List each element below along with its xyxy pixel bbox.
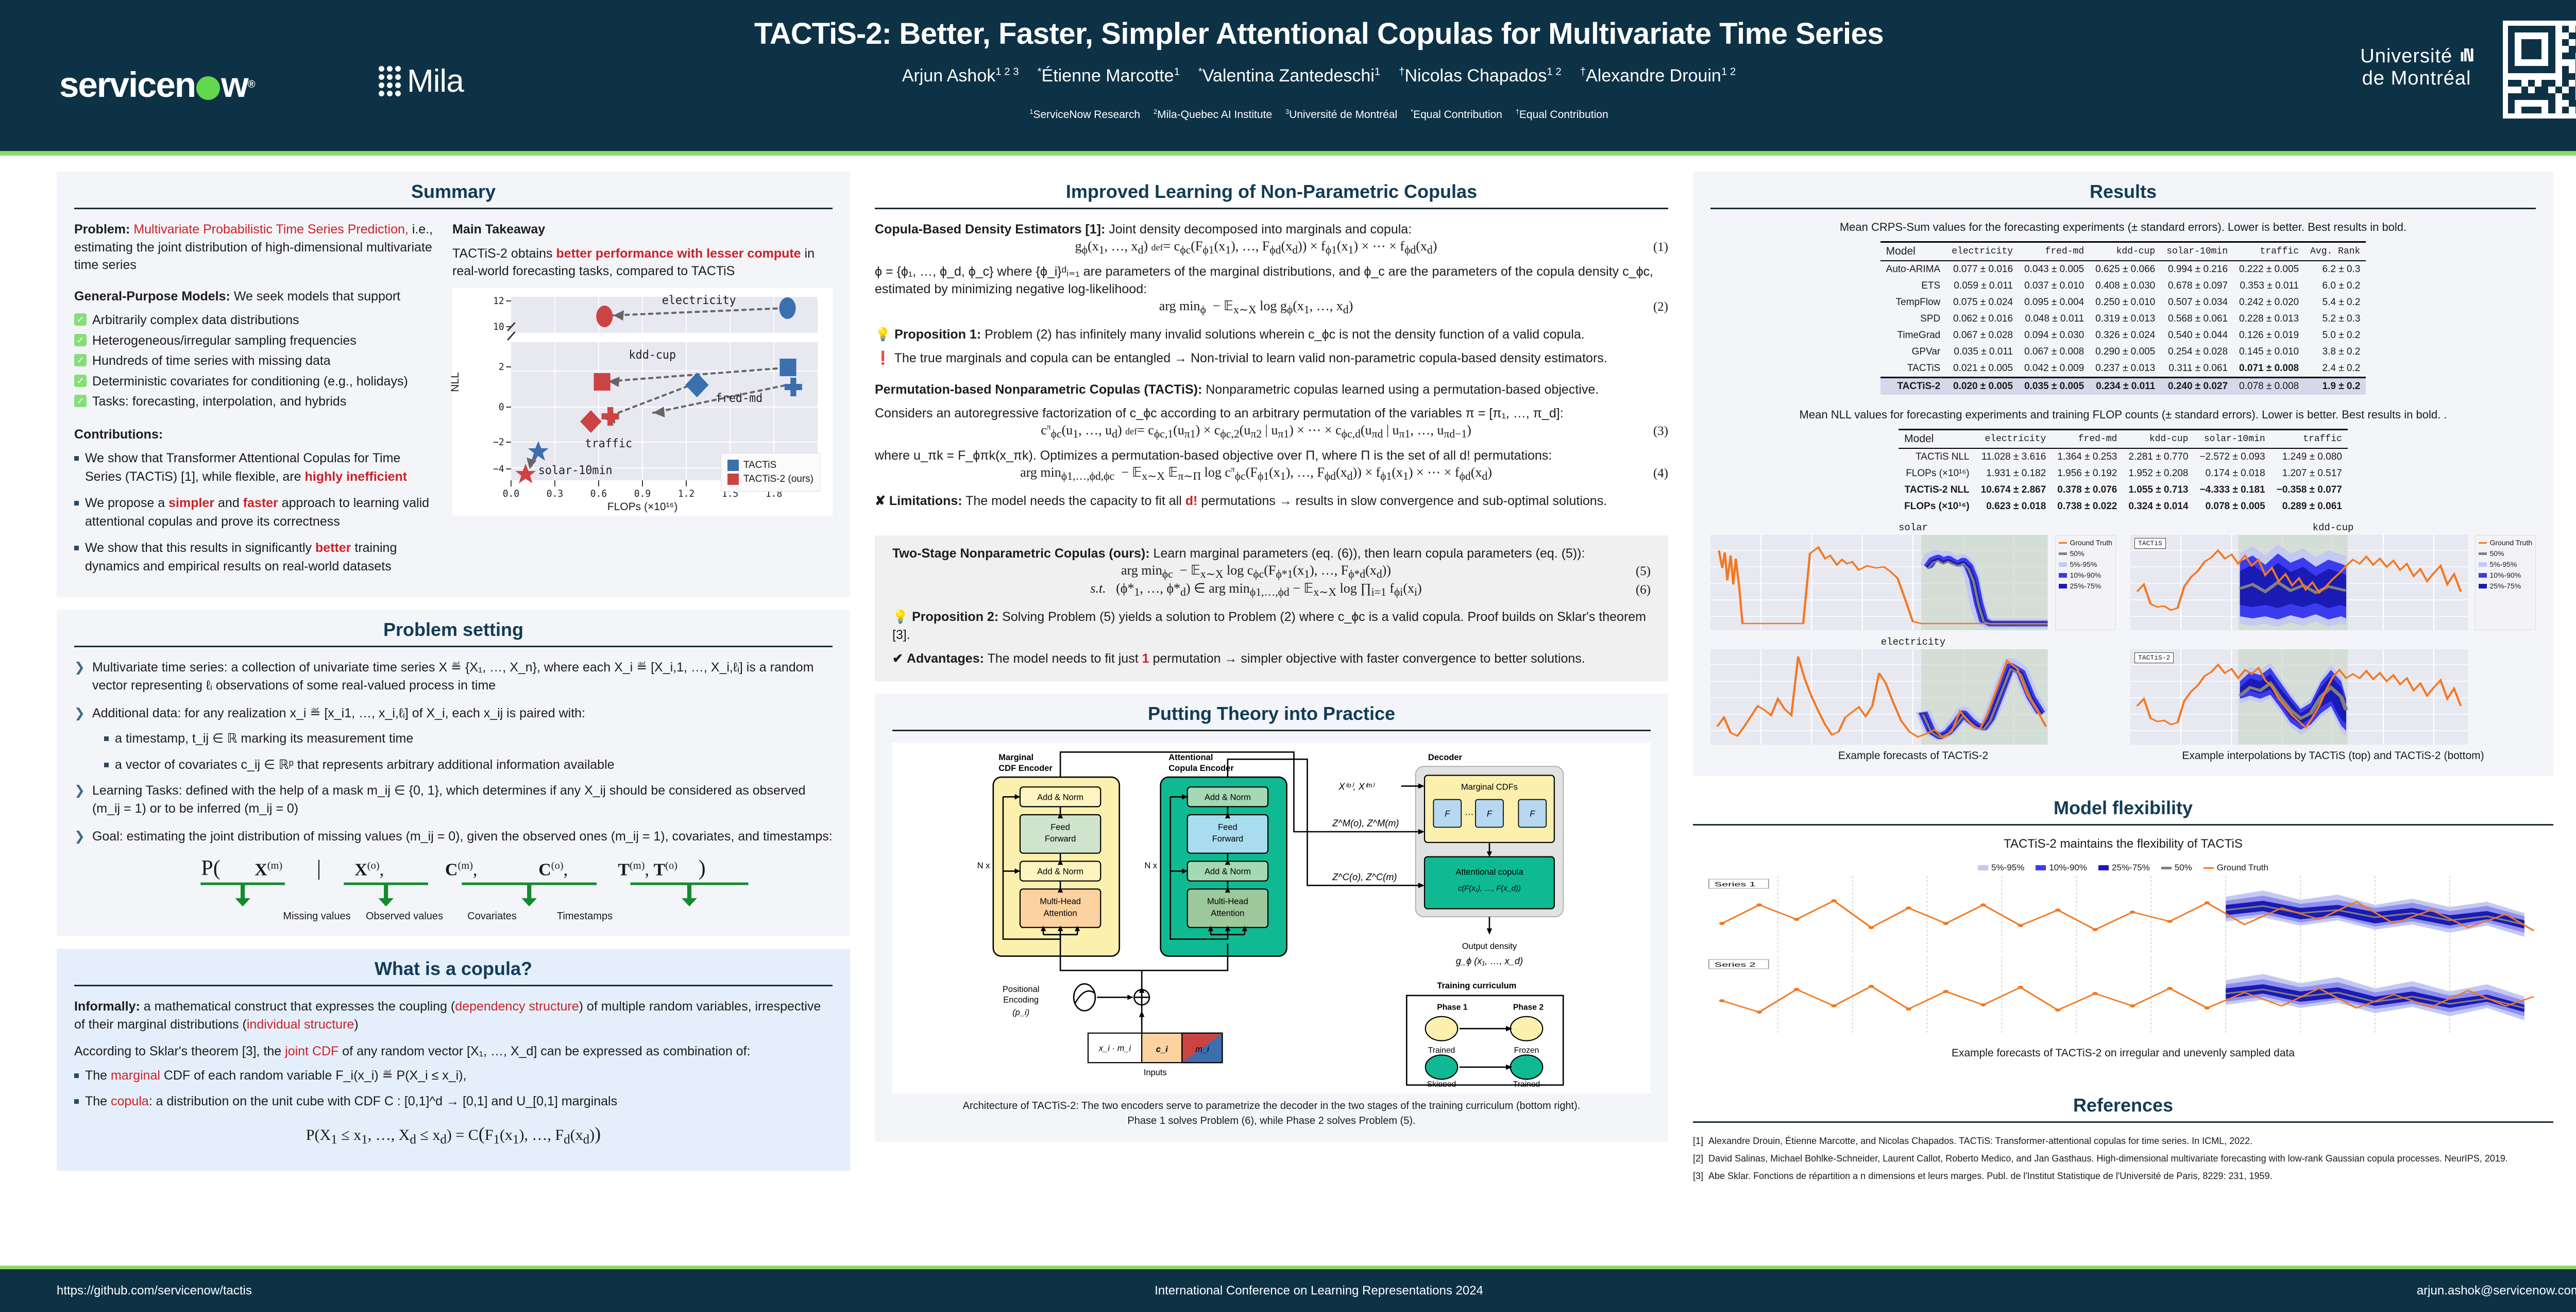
svg-text:g_ϕ (x₁, …, x_d): g_ϕ (x₁, …, x_d) <box>1456 955 1523 966</box>
flexibility-subtitle: TACTiS-2 maintains the flexibility of TA… <box>1693 837 2553 851</box>
udem-line2: de Montréal <box>2360 68 2473 90</box>
perm-label: Permutation-based Nonparametric Copulas … <box>875 382 1202 397</box>
cell: 5.0 ± 0.2 <box>2304 327 2366 344</box>
legend-tactis2: TACTiS-2 (ours) <box>743 473 814 485</box>
cell: 0.623 ± 0.018 <box>1975 498 2052 515</box>
svg-text:Multi-Head: Multi-Head <box>1040 897 1081 906</box>
practice-title: Putting Theory into Practice <box>892 703 1651 730</box>
row-model-name: TACTiS-2 <box>1880 378 1946 395</box>
svg-text:Attention: Attention <box>1211 909 1244 918</box>
plot-kddcup-tactis2-svg <box>2130 649 2468 745</box>
cell: 0.290 ± 0.005 <box>2090 344 2161 360</box>
cell: 0.326 ± 0.024 <box>2090 327 2161 344</box>
goal-equation: P( X(m) | X(o), C(m), C(o), T(m), T(o) ) <box>74 856 833 923</box>
plot-kddcup-tactis: TACTiS <box>2130 535 2468 630</box>
row-model-name: TimeGrad <box>1880 327 1946 344</box>
svg-text:Trained: Trained <box>1513 1080 1540 1087</box>
cell: 0.324 ± 0.014 <box>2123 498 2194 515</box>
gp-item-4: ✓Tasks: forecasting, interpolation, and … <box>74 392 435 412</box>
eq-num-6: (6) <box>1620 583 1651 597</box>
practice-section: Putting Theory into Practice Marginal CD… <box>875 694 1668 1142</box>
row-model-name: FLOPs (×10¹⁶) <box>1899 498 1975 515</box>
problem-statement: Problem: Multivariate Probabilistic Time… <box>74 221 435 274</box>
contribution-2: We show that this results in significant… <box>74 539 435 576</box>
col-header-0: Model <box>1899 430 1975 449</box>
cell: 0.568 ± 0.061 <box>2161 311 2233 327</box>
svg-text:Z^M(o), Z^M(m): Z^M(o), Z^M(m) <box>1332 817 1399 828</box>
chevron-right-icon: ❯ <box>74 659 85 694</box>
perm-rest: Nonparametric copulas learned using a pe… <box>1206 382 1599 397</box>
affiliation: 1ServiceNow Research <box>1029 109 1140 121</box>
table2-body: TACTiS NLL11.028 ± 3.6161.364 ± 0.2532.2… <box>1899 448 2348 515</box>
col-header-1: electricity <box>1946 242 2019 261</box>
sklar-a: According to Sklar's theorem [3], the <box>74 1044 285 1058</box>
goal-label-3: Timestamps <box>536 910 634 923</box>
svg-text:Frozen: Frozen <box>1514 1046 1539 1055</box>
gp-item-3: ✓Deterministic covariates for conditioni… <box>74 372 435 392</box>
series-2-label: Series 2 <box>1715 961 1756 968</box>
table-row: TACTiS0.021 ± 0.0050.042 ± 0.0090.237 ± … <box>1880 360 2366 378</box>
cell: 0.378 ± 0.076 <box>2052 482 2123 498</box>
equation-5: arg minϕc − 𝔼x∼X log cϕc(Fϕ*1(x1), …, Fϕ… <box>892 563 1651 581</box>
phi-description: ϕ = {ϕ₁, …, ϕ_d, ϕ_c} where {ϕ_i}ᵈᵢ₌₁ ar… <box>875 263 1668 298</box>
cell: 3.8 ± 0.2 <box>2304 344 2366 360</box>
flex-legend-1: 10%-90% <box>2049 863 2087 873</box>
row-model-name: ETS <box>1880 278 1946 294</box>
svg-text:Z^C(o), Z^C(m): Z^C(o), Z^C(m) <box>1332 871 1397 882</box>
col-header-4: solar-10min <box>2161 242 2233 261</box>
reference-item-1: [2]David Salinas, Michael Bohlke-Schneid… <box>1693 1152 2553 1166</box>
svg-text:Copula Encoder: Copula Encoder <box>1168 764 1234 773</box>
cell: 0.222 ± 0.005 <box>2233 261 2304 278</box>
prop1-label: Proposition 1: <box>894 327 981 342</box>
svg-text:CDF Encoder: CDF Encoder <box>998 764 1053 773</box>
reference-item-0: [1]Alexandre Drouin, Étienne Marcotte, a… <box>1693 1134 2553 1148</box>
cross-icon: ✘ <box>875 494 886 508</box>
legend-5-95: 5%-95% <box>2070 559 2097 570</box>
perm-where: where u_πk = F_ϕπk(x_πk). Optimizes a pe… <box>875 447 1668 465</box>
eq-num-2: (2) <box>1637 300 1668 314</box>
cell: 0.738 ± 0.022 <box>2052 498 2123 515</box>
left-column: Summary Problem: Multivariate Probabilis… <box>57 172 850 1266</box>
svg-text:⋯: ⋯ <box>1465 810 1474 819</box>
row-model-name: Auto-ARIMA <box>1880 261 1946 278</box>
cell: 0.311 ± 0.061 <box>2161 360 2233 378</box>
prop2-text: Solving Problem (5) yields a solution to… <box>892 610 1646 642</box>
ps-sub-1: a vector of covariates c_ij ∈ ℝᵖ that re… <box>115 756 615 774</box>
bulb-icon: 💡 <box>875 327 891 342</box>
svg-text:c(F(x₁), …, F(x_d)): c(F(x₁), …, F(x_d)) <box>1458 884 1521 893</box>
cell: 0.507 ± 0.034 <box>2161 294 2233 311</box>
twostage-rest: Learn marginal parameters (eq. (6)), the… <box>1154 546 1585 561</box>
ps-item-2: Learning Tasks: defined with the help of… <box>92 782 833 817</box>
scatter-ylabel: NLL <box>449 372 462 392</box>
permutation-line: Permutation-based Nonparametric Copulas … <box>875 381 1668 399</box>
title-prefix: TACTiS-2: <box>754 17 891 51</box>
svg-text:Encoding: Encoding <box>1003 995 1039 1004</box>
table-row: FLOPs (×10¹⁶)1.931 ± 0.1821.956 ± 0.1921… <box>1899 465 2348 482</box>
cell: 0.021 ± 0.005 <box>1946 360 2019 378</box>
cell: 10.674 ± 2.867 <box>1975 482 2052 498</box>
tag-tactis: TACTiS <box>2134 538 2166 549</box>
improved-title: Improved Learning of Non-Parametric Copu… <box>875 181 1668 208</box>
additional-data-sublist: a timestamp, t_ij ∈ ℝ marking its measur… <box>104 730 833 773</box>
sklar-equation: P(X1 ≤ x1, …, Xd ≤ xd) = C(F1(x1), …, Fd… <box>74 1123 833 1147</box>
cell: 0.242 ± 0.020 <box>2233 294 2304 311</box>
table-row: FLOPs (×10¹⁶)0.623 ± 0.0180.738 ± 0.0220… <box>1899 498 2348 515</box>
goal-label-1: Observed values <box>361 910 448 923</box>
advantages-line: ✔ Advantages: The model needs to fit jus… <box>892 650 1651 668</box>
problem-label: Problem: <box>74 222 130 237</box>
adv-highlight: 1 <box>1142 651 1149 666</box>
gp-rest: We seek models that support <box>234 289 400 304</box>
right-column: Results Mean CRPS-Sum values for the for… <box>1693 172 2553 1266</box>
general-purpose-models: General-Purpose Models: We seek models t… <box>74 288 435 306</box>
svg-text:c_i: c_i <box>1156 1045 1168 1054</box>
affiliation: †Equal Contribution <box>1516 109 1608 121</box>
cell: 0.625 ± 0.066 <box>2090 261 2161 278</box>
svg-text:X⁽ᵒ⁾, X⁽ᵐ⁾: X⁽ᵒ⁾, X⁽ᵐ⁾ <box>1338 781 1375 792</box>
flexibility-caption: Example forecasts of TACTiS-2 on irregul… <box>1693 1047 2553 1059</box>
contributions-list: We show that Transformer Attentional Cop… <box>74 449 435 576</box>
svg-text:1.2: 1.2 <box>678 488 694 498</box>
takeaway-highlight: better performance with lesser compute <box>556 246 801 261</box>
row-model-name: TACTiS-2 NLL <box>1899 482 1975 498</box>
svg-text:m_i: m_i <box>1195 1045 1210 1054</box>
legend-25-75: 25%-75% <box>2070 581 2102 592</box>
svg-text:0.3: 0.3 <box>547 488 563 498</box>
results-caption-2: Mean NLL values for forecasting experime… <box>1710 408 2536 422</box>
col-header-3: kdd-cup <box>2090 242 2161 261</box>
plot-electricity-svg <box>1710 649 2048 745</box>
legend-ground-truth: Ground Truth <box>2070 537 2113 548</box>
cell: 2.4 ± 0.2 <box>2304 360 2366 378</box>
twostage-label: Two-Stage Nonparametric Copulas (ours): <box>892 546 1150 561</box>
table1-header-row: Modelelectricityfred-mdkdd-cupsolar-10mi… <box>1880 242 2366 261</box>
goal-labels: Missing values Observed values Covariate… <box>74 910 833 923</box>
exclaim-icon: ❗ <box>875 351 891 365</box>
model-flexibility-section: Model flexibility TACTiS-2 maintains the… <box>1693 788 2553 1073</box>
contribution-1: We propose a simpler and faster approach… <box>74 494 435 531</box>
author-list: Arjun Ashok1 2 3*Étienne Marcotte1*Valen… <box>0 66 2576 86</box>
flexibility-plots: 5%-95% 10%-90% 25%-75% 50% Ground Truth <box>1693 857 2553 1042</box>
udem-mark-icon: ıl\l <box>2460 46 2473 66</box>
poster-footer: https://github.com/servicenow/tactis Int… <box>0 1266 2576 1312</box>
fc-title-solar: solar <box>1710 522 2116 533</box>
architecture-caption: Architecture of TACTiS-2: The two encode… <box>892 1099 1651 1129</box>
annotation-solar: solar-10min <box>538 463 613 477</box>
cell: 0.059 ± 0.011 <box>1946 278 2019 294</box>
row-model-name: TempFlow <box>1880 294 1946 311</box>
col-header-2: fred-md <box>2052 430 2123 449</box>
svg-text:Feed: Feed <box>1218 822 1238 832</box>
svg-text:Attentional: Attentional <box>1168 753 1213 762</box>
cell: 0.035 ± 0.011 <box>1946 344 2019 360</box>
check-icon: ✓ <box>74 334 87 346</box>
annotation-traffic: traffic <box>585 436 633 450</box>
poster-title: TACTiS-2: Better, Faster, Simpler Attent… <box>0 16 2576 51</box>
forecast-left: solar <box>1710 522 2116 762</box>
poster-header: servicenw® Mila TACTiS-2: Better, Faster… <box>0 0 2576 156</box>
cell: 0.062 ± 0.016 <box>1946 311 2019 327</box>
author-name: *Valentina Zantedeschi1 <box>1198 66 1380 86</box>
cbde-label: Copula-Based Density Estimators [1]: <box>875 222 1105 237</box>
svg-text:Marginal: Marginal <box>998 753 1033 762</box>
author-name: †Nicolas Chapados1 2 <box>1399 66 1562 86</box>
limit-highlight: d! <box>1185 494 1198 508</box>
check-icon: ✓ <box>74 375 87 387</box>
annotation-electricity: electricity <box>662 293 736 307</box>
flex-legend-4: Ground Truth <box>2217 863 2268 873</box>
fc-title-electricity: electricity <box>1710 636 2116 648</box>
svg-text:Phase 1: Phase 1 <box>1437 1003 1467 1012</box>
svg-text:Marginal CDFs: Marginal CDFs <box>1461 782 1518 792</box>
row-model-name: TACTiS <box>1880 360 1946 378</box>
qr-code[interactable] <box>2503 21 2576 119</box>
affiliation-list: 1ServiceNow Research2Mila-Quebec AI Inst… <box>0 108 2576 121</box>
table-row: TACTiS NLL11.028 ± 3.6161.364 ± 0.2532.2… <box>1899 448 2348 465</box>
cbde-rest: Joint density decomposed into marginals … <box>1109 222 1412 237</box>
author-name: *Étienne Marcotte1 <box>1038 66 1180 86</box>
svg-text:Skipped: Skipped <box>1427 1080 1456 1087</box>
cell: 0.048 ± 0.011 <box>2019 311 2090 327</box>
cell: 0.174 ± 0.018 <box>2194 465 2270 482</box>
svg-text:F: F <box>1530 809 1535 818</box>
copula-informal: Informally: a mathematical construct tha… <box>74 998 833 1033</box>
legend-tactis: TACTiS <box>743 459 776 472</box>
udem-logo: Universitéıl\l de Montréal <box>2360 45 2473 90</box>
tag-tactis2: TACTiS-2 <box>2134 652 2174 663</box>
adv-label: Advantages: <box>907 651 984 666</box>
copula-bullet-0: The marginal CDF of each random variable… <box>85 1067 467 1085</box>
architecture-diagram: Marginal CDF Encoder Add & Norm FeedForw… <box>892 743 1651 1094</box>
cell: 0.240 ± 0.027 <box>2161 378 2233 395</box>
annotation-fred-md: fred-md <box>716 391 763 405</box>
col-header-6: Avg. Rank <box>2304 242 2366 261</box>
svg-text:Attentional copula: Attentional copula <box>1455 867 1523 877</box>
author-name: Arjun Ashok1 2 3 <box>902 66 1019 86</box>
references-section: References [1]Alexandre Drouin, Étienne … <box>1693 1085 2553 1200</box>
references-title: References <box>1693 1095 2553 1121</box>
contribution-0: We show that Transformer Attentional Cop… <box>74 449 435 486</box>
cell: 0.043 ± 0.005 <box>2019 261 2090 278</box>
main-takeaway: Main Takeaway TACTiS-2 obtains better pe… <box>452 221 833 584</box>
legend-10-90: 10%-90% <box>2070 570 2102 581</box>
scatter-xlabel: FLOPs (×10¹⁶) <box>457 501 827 513</box>
title-rest: Better, Faster, Simpler Attentional Copu… <box>899 17 1884 51</box>
cell: 1.249 ± 0.080 <box>2271 448 2348 465</box>
takeaway-title: Main Takeaway <box>452 221 833 239</box>
architecture-svg: Marginal CDF Encoder Add & Norm FeedForw… <box>896 747 1647 1087</box>
svg-text:−2: −2 <box>493 436 504 448</box>
eq-num-1: (1) <box>1637 240 1668 255</box>
references-list: [1]Alexandre Drouin, Étienne Marcotte, a… <box>1693 1134 2553 1183</box>
adv-b: permutation → simpler objective with fas… <box>1149 651 1585 666</box>
table1-body: Auto-ARIMA0.077 ± 0.0160.043 ± 0.0050.62… <box>1880 261 2366 395</box>
flex-legend-3: 50% <box>2175 863 2192 873</box>
gp-label: General-Purpose Models: <box>74 289 230 304</box>
table-row-highlighted: TACTiS-20.020 ± 0.0050.035 ± 0.0050.234 … <box>1880 378 2366 395</box>
affiliation: *Equal Contribution <box>1411 109 1502 121</box>
table-row: GPVar0.035 ± 0.0110.067 ± 0.0080.290 ± 0… <box>1880 344 2366 360</box>
svg-text:F: F <box>1487 809 1493 818</box>
ps-item-0: Multivariate time series: a collection o… <box>92 659 833 694</box>
svg-text:x_i · m_i: x_i · m_i <box>1098 1044 1132 1053</box>
svg-text:F: F <box>1445 809 1450 818</box>
cell: 0.067 ± 0.028 <box>1946 327 2019 344</box>
cbde-line: Copula-Based Density Estimators [1]: Joi… <box>875 221 1668 239</box>
cell: 0.234 ± 0.011 <box>2090 378 2161 395</box>
gp-item-0: ✓Arbitrarily complex data distributions <box>74 310 435 331</box>
svg-text:Trained: Trained <box>1428 1046 1455 1055</box>
cell: 1.207 ± 0.517 <box>2271 465 2348 482</box>
forecast-caption-right: Example interpolations by TACTiS (top) a… <box>2130 750 2536 762</box>
warn-text: The true marginals and copula can be ent… <box>894 351 1607 365</box>
equation-4: arg minϕ1,…,ϕd,ϕc − 𝔼x∼X 𝔼π∼Π log cπϕc(F… <box>875 465 1668 483</box>
eq-num-3: (3) <box>1637 424 1668 439</box>
svg-text:Forward: Forward <box>1212 834 1244 844</box>
legend2-10-90: 10%-90% <box>2490 570 2521 581</box>
gp-checklist: ✓Arbitrarily complex data distributions✓… <box>74 310 435 412</box>
legend2-50: 50% <box>2490 548 2504 559</box>
flex-plot-series1: Series 1 <box>1703 876 2543 953</box>
svg-text:Phase 2: Phase 2 <box>1513 1003 1544 1012</box>
svg-text:Multi-Head: Multi-Head <box>1207 897 1248 906</box>
col-header-1: electricity <box>1975 430 2052 449</box>
reference-item-2: [3]Abe Sklar. Fonctions de répartition a… <box>1693 1169 2553 1183</box>
flexibility-legend: 5%-95% 10%-90% 25%-75% 50% Ground Truth <box>1703 863 2543 873</box>
cell: −2.572 ± 0.093 <box>2194 448 2270 465</box>
problem-highlight: Multivariate Probabilistic Time Series P… <box>133 222 409 237</box>
cell: 5.2 ± 0.3 <box>2304 311 2366 327</box>
svg-text:−4: −4 <box>493 463 504 475</box>
crps-results-table: Modelelectricityfred-mdkdd-cupsolar-10mi… <box>1880 241 2366 395</box>
cell: 0.067 ± 0.008 <box>2019 344 2090 360</box>
flex-legend-0: 5%-95% <box>1991 863 2024 873</box>
check-icon: ✓ <box>74 313 87 326</box>
table-row: SPD0.062 ± 0.0160.048 ± 0.0110.319 ± 0.0… <box>1880 311 2366 327</box>
problem-setting-title: Problem setting <box>74 619 833 646</box>
two-stage-section: Two-Stage Nonparametric Copulas (ours): … <box>875 535 1668 681</box>
cell: 0.540 ± 0.044 <box>2161 327 2233 344</box>
flex-plot-1-svg: Series 1 <box>1703 876 2543 953</box>
col-header-2: fred-md <box>2019 242 2090 261</box>
col-header-5: traffic <box>2233 242 2304 261</box>
middle-column: Improved Learning of Non-Parametric Copu… <box>875 172 1668 1266</box>
summary-section: Summary Problem: Multivariate Probabilis… <box>57 172 850 597</box>
cell: 0.071 ± 0.008 <box>2233 360 2304 378</box>
copula-informal-label: Informally: <box>74 999 140 1014</box>
results-caption-1: Mean CRPS-Sum values for the forecasting… <box>1710 221 2536 234</box>
bulb-icon: 💡 <box>892 610 908 624</box>
goal-label-2: Covariates <box>448 910 536 923</box>
cell: 6.0 ± 0.2 <box>2304 278 2366 294</box>
flex-plot-2-svg: Series 2 <box>1703 956 2543 1034</box>
plot-electricity <box>1710 649 2048 745</box>
svg-text:Forward: Forward <box>1045 834 1076 844</box>
table-row: Auto-ARIMA0.077 ± 0.0160.043 ± 0.0050.62… <box>1880 261 2366 278</box>
cell: 0.077 ± 0.016 <box>1946 261 2019 278</box>
prop2-label: Proposition 2: <box>912 610 998 624</box>
chevron-right-icon: ❯ <box>74 782 85 817</box>
table2-header-row: Modelelectricityfred-mdkdd-cupsolar-10mi… <box>1899 430 2348 449</box>
check-icon: ✓ <box>74 395 87 407</box>
plot-kddcup-tactis2: TACTiS-2 <box>2130 649 2468 745</box>
ps-item-3: Goal: estimating the joint distribution … <box>92 828 833 846</box>
problem-setting-section: Problem setting ❯ Multivariate time seri… <box>57 610 850 936</box>
problem-setting-list: ❯ Multivariate time series: a collection… <box>74 659 833 722</box>
summary-title: Summary <box>74 181 833 208</box>
cell: 0.678 ± 0.097 <box>2161 278 2233 294</box>
goal-label-0: Missing values <box>273 910 361 923</box>
svg-text:12: 12 <box>493 295 504 307</box>
cell: −4.333 ± 0.181 <box>2194 482 2270 498</box>
ps-sub-0: a timestamp, t_ij ∈ ℝ marking its measur… <box>115 730 413 748</box>
svg-text:Positional: Positional <box>1003 985 1040 994</box>
svg-text:Add & Norm: Add & Norm <box>1037 793 1083 802</box>
table-row: TACTiS-2 NLL10.674 ± 2.8670.378 ± 0.0761… <box>1899 482 2348 498</box>
affiliation: 2Mila-Quebec AI Institute <box>1154 109 1272 121</box>
row-model-name: GPVar <box>1880 344 1946 360</box>
legend2-25-75: 25%-75% <box>2490 581 2521 592</box>
forecast-caption-left: Example forecasts of TACTiS-2 <box>1710 750 2116 762</box>
copula-sklar: According to Sklar's theorem [3], the jo… <box>74 1042 833 1061</box>
cell: 5.4 ± 0.2 <box>2304 294 2366 311</box>
col-header-5: traffic <box>2271 430 2348 449</box>
table-row: ETS0.059 ± 0.0110.037 ± 0.0100.408 ± 0.0… <box>1880 278 2366 294</box>
takeaway-a: TACTiS-2 obtains <box>452 246 556 261</box>
svg-text:N x: N x <box>1144 861 1158 870</box>
forecast-plot-grid: solar <box>1710 522 2536 762</box>
cell: 2.281 ± 0.770 <box>2123 448 2194 465</box>
sklar-highlight: joint CDF <box>285 1044 338 1058</box>
check-icon: ✓ <box>74 354 87 366</box>
adv-a: The model needs to fit just <box>984 651 1142 666</box>
svg-text:10: 10 <box>493 321 504 332</box>
svg-text:Add & Norm: Add & Norm <box>1037 867 1083 876</box>
copula-title: What is a copula? <box>74 958 833 985</box>
svg-text:N x: N x <box>977 861 991 870</box>
arch-caption-2: Phase 1 solves Problem (6), while Phase … <box>892 1114 1651 1129</box>
cell: 0.319 ± 0.013 <box>2090 311 2161 327</box>
flex-legend-2: 25%-75% <box>2112 863 2150 873</box>
plot-solar <box>1710 535 2048 630</box>
prop1-text: Problem (2) has infinitely many invalid … <box>981 327 1585 342</box>
svg-text:(p_i): (p_i) <box>1012 1008 1029 1017</box>
goal-arrows <box>74 881 833 907</box>
svg-text:0.0: 0.0 <box>503 488 519 498</box>
plot-kddcup-tactis-svg <box>2130 535 2468 630</box>
cell: 11.028 ± 3.616 <box>1975 448 2052 465</box>
cell: 6.2 ± 0.3 <box>2304 261 2366 278</box>
svg-text:0.6: 0.6 <box>590 488 607 498</box>
svg-text:Attention: Attention <box>1044 909 1077 918</box>
cell: 0.250 ± 0.010 <box>2090 294 2161 311</box>
author-name: †Alexandre Drouin1 2 <box>1580 66 1736 86</box>
cell: 1.931 ± 0.182 <box>1975 465 2052 482</box>
eq-num-5: (5) <box>1620 564 1651 579</box>
cell: 0.408 ± 0.030 <box>2090 278 2161 294</box>
cell: 1.952 ± 0.208 <box>2123 465 2194 482</box>
copula-informal-c: ) <box>354 1017 358 1032</box>
svg-text:2: 2 <box>499 361 504 373</box>
row-model-name: FLOPs (×10¹⁶) <box>1899 465 1975 482</box>
results-title: Results <box>1710 181 2536 208</box>
forecast-right: kdd-cup TACTiS <box>2130 522 2536 762</box>
takeaway-text: TACTiS-2 obtains better performance with… <box>452 245 833 280</box>
cell: 0.994 ± 0.216 <box>2161 261 2233 278</box>
cell: 0.237 ± 0.013 <box>2090 360 2161 378</box>
